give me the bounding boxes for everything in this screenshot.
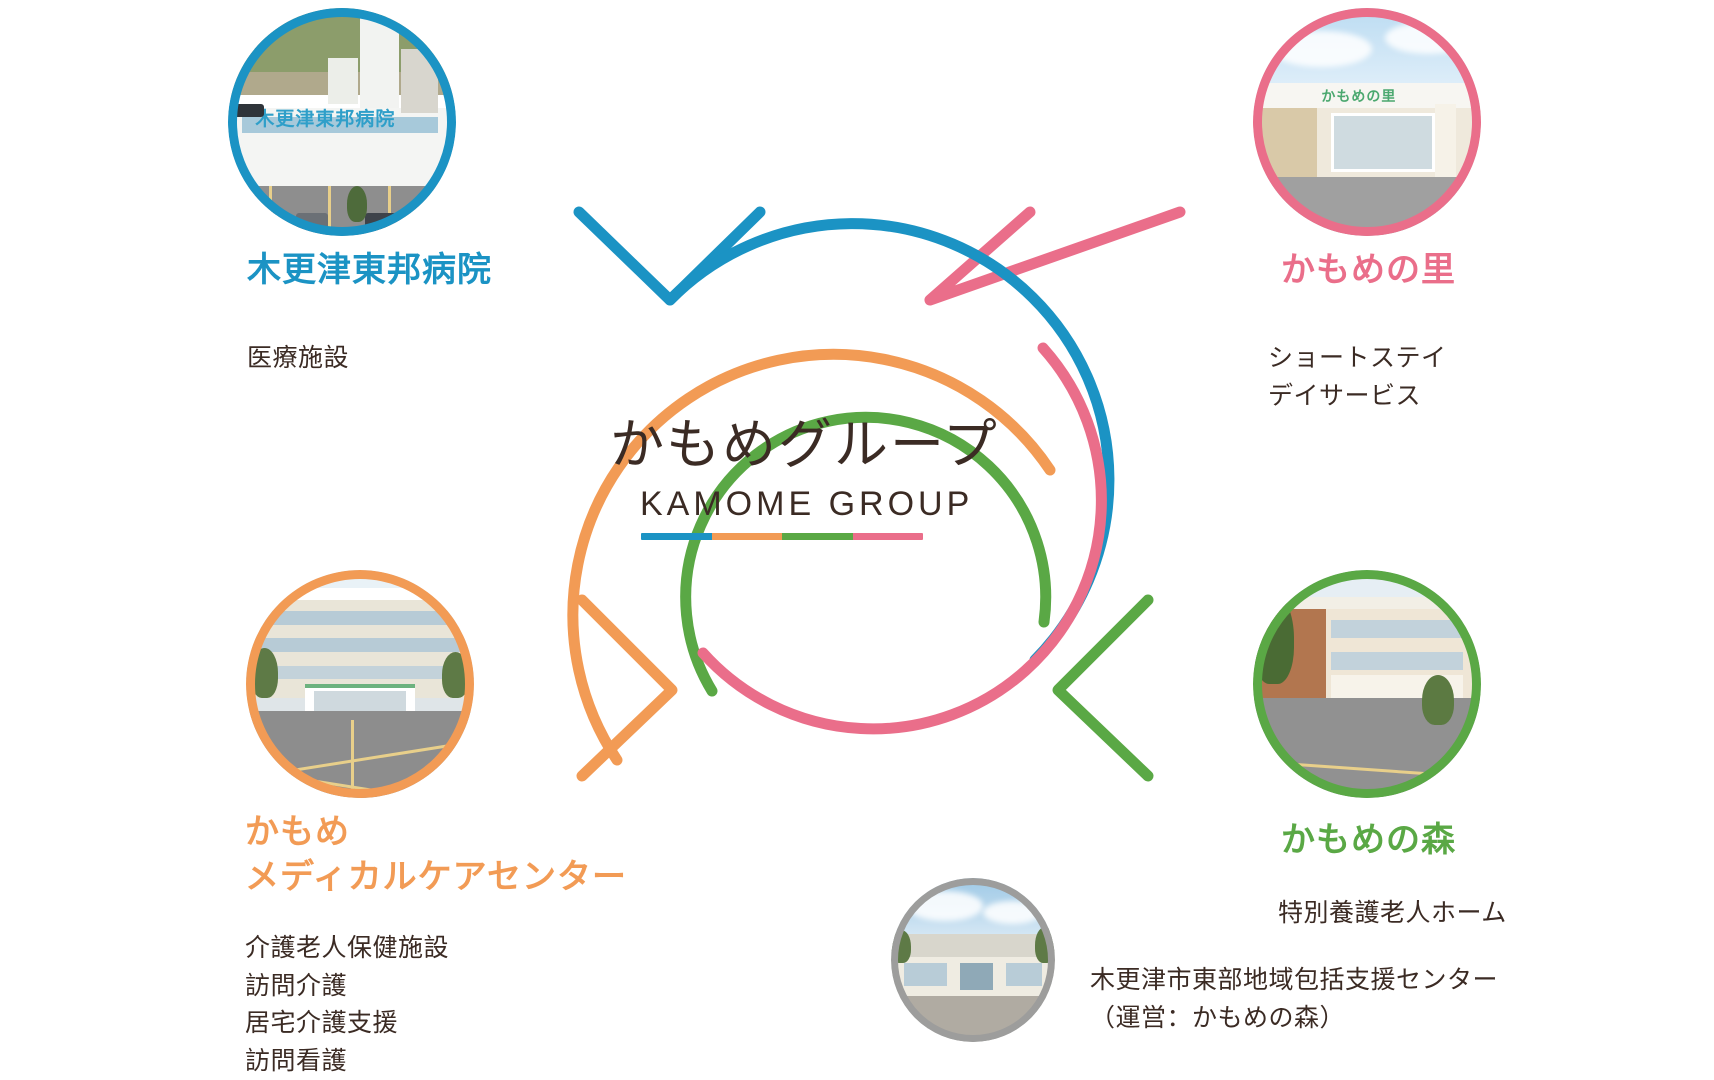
node-services-kamome-no-mori: 特別養護老人ホーム (1278, 895, 1507, 933)
node-services-kamome-no-sato: ショートステイ デイサービス (1268, 340, 1447, 415)
photo-kisarazu-toho-hospital[interactable]: 木更津東邦病院 (228, 8, 456, 236)
kamome-no-mori-photo-scene (1253, 570, 1481, 798)
connector-green (1058, 600, 1148, 776)
node-services-community-support-center: 木更津市東部地域包括支援センター （運営：かもめの森） (1090, 962, 1498, 1037)
node-services-kamome-medical-care-center: 介護老人保健施設 訪問介護 居宅介護支援 訪問看護 (245, 930, 449, 1080)
kamome-group-diagram: かもめグループ KAMOME GROUP 木更津東邦病院 (0, 0, 1714, 1076)
center-logo-title-jp: かもめグループ (610, 400, 999, 479)
underline-segment-pink (853, 533, 924, 540)
photo-community-support-center[interactable] (891, 878, 1055, 1042)
underline-segment-green (782, 533, 853, 540)
kamome-no-sato-photo-scene: かもめの里 (1253, 8, 1481, 236)
center-logo-title-en: KAMOME GROUP (640, 485, 973, 524)
node-title-kisarazu-toho-hospital: 木更津東邦病院 (247, 248, 492, 293)
photo-kamome-no-sato[interactable]: かもめの里 (1253, 8, 1481, 236)
photo-kamome-medical-care-center[interactable] (246, 570, 474, 798)
photo-kamome-no-mori[interactable] (1253, 570, 1481, 798)
connector-orange (582, 600, 672, 776)
community-support-center-photo-scene (891, 878, 1055, 1042)
underline-segment-blue (641, 533, 712, 540)
node-services-kisarazu-toho-hospital: 医療施設 (247, 340, 349, 378)
node-title-kamome-no-mori: かもめの森 (1281, 818, 1456, 863)
underline-segment-orange (712, 533, 783, 540)
node-title-kamome-medical-care-center: かもめ メディカルケアセンター (245, 810, 627, 900)
hospital-photo-scene: 木更津東邦病院 (228, 8, 456, 236)
node-title-kamome-no-sato: かもめの里 (1281, 248, 1456, 293)
center-logo-underline-bar (641, 533, 923, 540)
medical-care-center-photo-scene (246, 570, 474, 798)
